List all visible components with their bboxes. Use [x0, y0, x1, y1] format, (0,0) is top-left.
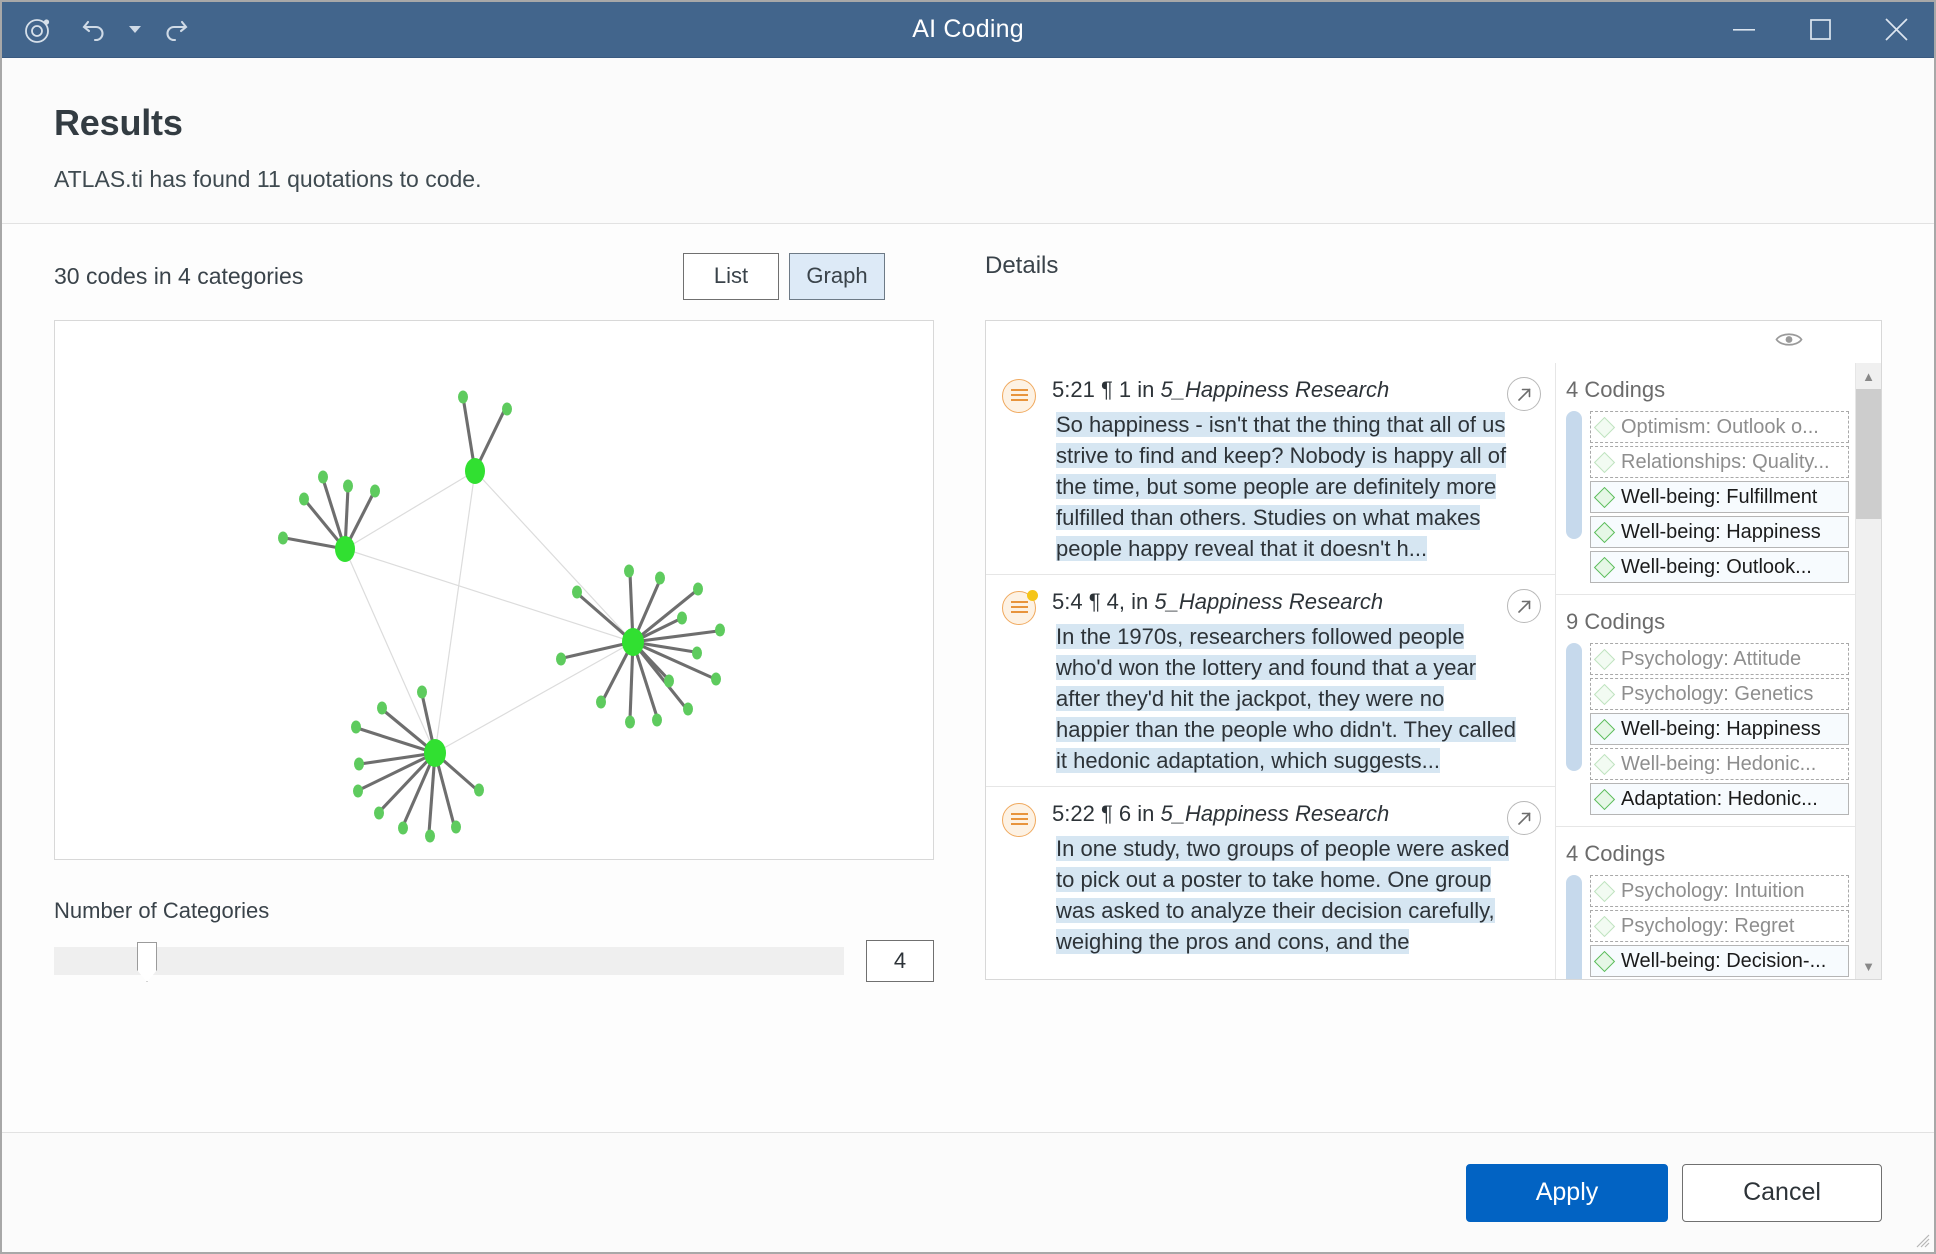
codings-count: 9 Codings [1566, 609, 1849, 635]
quotation-icon [1002, 591, 1036, 625]
open-in-new-icon[interactable] [1507, 589, 1541, 623]
quotation-paragraph: ¶ 4, [1089, 589, 1125, 614]
code-diamond-icon [1594, 683, 1615, 704]
codings-count: 4 Codings [1566, 841, 1849, 867]
code-diamond-icon [1594, 880, 1615, 901]
code-chip[interactable]: Relationships: Quality... [1590, 446, 1849, 478]
window-title: AI Coding [2, 15, 1934, 44]
code-diamond-icon [1594, 915, 1615, 936]
quotation-list: 5:21 ¶ 1 in 5_Happiness Research So happ… [986, 363, 1555, 979]
code-chip[interactable]: Adaptation: Hedonic... [1590, 783, 1849, 815]
code-chip[interactable]: Well-being: Happiness [1590, 713, 1849, 745]
code-diamond-icon [1594, 521, 1615, 542]
atlas-ti-logo-icon [12, 5, 64, 55]
details-scroll-area: 5:21 ¶ 1 in 5_Happiness Research So happ… [986, 363, 1881, 979]
dialog-footer: Apply Cancel [2, 1132, 1934, 1252]
quotation-header: 5:4 ¶ 4, in 5_Happiness Research [1052, 589, 1539, 615]
code-label: Optimism: Outlook o... [1621, 416, 1819, 439]
code-label: Relationships: Quality... [1621, 451, 1830, 474]
code-label: Psychology: Genetics [1621, 683, 1813, 706]
open-in-new-icon[interactable] [1507, 801, 1541, 835]
redo-icon[interactable] [150, 5, 202, 55]
code-chip[interactable]: Optimism: Outlook o... [1590, 411, 1849, 443]
close-icon[interactable] [1858, 2, 1934, 58]
undo-icon[interactable] [68, 5, 120, 55]
eye-icon[interactable] [1775, 330, 1803, 354]
quotation-item[interactable]: 5:22 ¶ 6 in 5_Happiness Research In one … [986, 786, 1555, 967]
code-label: Adaptation: Hedonic... [1621, 788, 1818, 811]
graph-leaf-nodes [278, 391, 725, 843]
graph-svg [55, 321, 933, 859]
quotation-content: 5:21 ¶ 1 in 5_Happiness Research So happ… [1052, 377, 1539, 564]
code-label: Psychology: Attitude [1621, 648, 1801, 671]
details-title: Details [985, 252, 1882, 300]
code-chip[interactable]: Well-being: Outlook... [1590, 551, 1849, 583]
slider-thumb[interactable] [137, 942, 157, 982]
view-switcher: List Graph [683, 253, 885, 300]
categories-slider[interactable] [54, 947, 844, 975]
code-label: Well-being: Hedonic... [1621, 753, 1816, 776]
quotation-icon [1002, 379, 1036, 413]
codings-indicator-bar [1566, 875, 1582, 979]
code-label: Well-being: Fulfillment [1621, 486, 1817, 509]
codes-summary: 30 codes in 4 categories [54, 263, 303, 290]
graph-hub-links [345, 471, 633, 753]
codings-group: 4 Codings Optimism: Outlook o... [1556, 363, 1855, 594]
graph-spokes [285, 397, 718, 833]
code-label: Psychology: Intuition [1621, 880, 1804, 903]
scroll-down-icon[interactable]: ▼ [1856, 953, 1881, 979]
quotation-text: In the 1970s, researchers followed peopl… [1052, 621, 1522, 776]
maximize-icon[interactable] [1782, 2, 1858, 58]
quotation-in-label: in [1137, 801, 1154, 826]
quotation-in-label: in [1131, 589, 1148, 614]
details-scrollbar[interactable]: ▲ ▼ [1855, 363, 1881, 979]
quotation-header: 5:21 ¶ 1 in 5_Happiness Research [1052, 377, 1539, 403]
quotation-header: 5:22 ¶ 6 in 5_Happiness Research [1052, 801, 1539, 827]
codings-count: 4 Codings [1566, 377, 1849, 403]
cancel-button[interactable]: Cancel [1682, 1164, 1882, 1222]
code-diamond-icon [1594, 753, 1615, 774]
quotation-id: 5:4 [1052, 589, 1083, 614]
code-diamond-icon [1594, 788, 1615, 809]
code-chip[interactable]: Well-being: Hedonic... [1590, 748, 1849, 780]
codings-group: 9 Codings Psychology: Attitude [1556, 594, 1855, 826]
title-bar: AI Coding [2, 2, 1934, 58]
quotation-paragraph: ¶ 1 [1101, 377, 1131, 402]
quotation-item[interactable]: 5:21 ¶ 1 in 5_Happiness Research So happ… [986, 363, 1555, 574]
tab-graph-view[interactable]: Graph [789, 253, 885, 300]
categories-value-input[interactable]: 4 [866, 940, 934, 982]
code-diamond-icon [1594, 556, 1615, 577]
window-controls [1706, 2, 1934, 58]
scrollbar-thumb[interactable] [1856, 389, 1881, 519]
code-chip[interactable]: Psychology: Attitude [1590, 643, 1849, 675]
code-diamond-icon [1594, 451, 1615, 472]
details-topbar [986, 321, 1881, 363]
slider-label: Number of Categories [54, 898, 934, 924]
quotation-document: 5_Happiness Research [1154, 589, 1383, 614]
quotation-badge-dot [1027, 590, 1038, 601]
code-diamond-icon [1594, 718, 1615, 739]
code-chip[interactable]: Psychology: Intuition [1590, 875, 1849, 907]
code-chip[interactable]: Well-being: Decision-... [1590, 945, 1849, 977]
quotation-item[interactable]: 5:4 ¶ 4, in 5_Happiness Research In the … [986, 574, 1555, 786]
results-subtitle: ATLAS.ti has found 11 quotations to code… [54, 166, 1934, 193]
quotation-document: 5_Happiness Research [1161, 377, 1390, 402]
scroll-up-icon[interactable]: ▲ [1856, 363, 1881, 389]
code-label: Well-being: Happiness [1621, 718, 1821, 741]
details-panel: 5:21 ¶ 1 in 5_Happiness Research So happ… [985, 320, 1882, 980]
code-graph[interactable] [54, 320, 934, 860]
codings-indicator-bar [1566, 411, 1582, 539]
apply-button[interactable]: Apply [1466, 1164, 1668, 1222]
quotation-document: 5_Happiness Research [1161, 801, 1390, 826]
quotation-id: 5:22 [1052, 801, 1095, 826]
minimize-icon[interactable] [1706, 2, 1782, 58]
code-chip[interactable]: Psychology: Regret [1590, 910, 1849, 942]
slider-row: 4 [54, 940, 934, 982]
codes-pane: 30 codes in 4 categories List Graph [2, 224, 937, 1132]
results-header: Results ATLAS.ti has found 11 quotations… [2, 58, 1934, 224]
quotation-text: In one study, two groups of people were … [1052, 833, 1522, 957]
code-label: Psychology: Regret [1621, 915, 1794, 938]
quotation-paragraph: ¶ 6 [1101, 801, 1131, 826]
code-diamond-icon [1594, 950, 1615, 971]
code-diamond-icon [1594, 416, 1615, 437]
quotation-icon [1002, 803, 1036, 837]
code-diamond-icon [1594, 648, 1615, 669]
title-bar-tools [2, 5, 202, 55]
codings-list: 4 Codings Optimism: Outlook o... [1555, 363, 1855, 979]
open-in-new-icon[interactable] [1507, 377, 1541, 411]
code-label: Well-being: Outlook... [1621, 556, 1812, 579]
code-chip[interactable]: Psychology: Genetics [1590, 678, 1849, 710]
dialog-body: 30 codes in 4 categories List Graph [2, 224, 1934, 1132]
quotation-content: 5:22 ¶ 6 in 5_Happiness Research In one … [1052, 801, 1539, 957]
code-diamond-icon [1594, 486, 1615, 507]
tab-list-view[interactable]: List [683, 253, 779, 300]
code-label: Well-being: Decision-... [1621, 950, 1826, 973]
codes-toolbar: 30 codes in 4 categories List Graph [54, 252, 937, 300]
resize-grip[interactable] [1916, 1234, 1930, 1248]
quotation-content: 5:4 ¶ 4, in 5_Happiness Research In the … [1052, 589, 1539, 776]
code-label: Well-being: Happiness [1621, 521, 1821, 544]
codings-indicator-bar [1566, 643, 1582, 771]
quotation-id: 5:21 [1052, 377, 1095, 402]
chevron-down-icon[interactable] [124, 5, 146, 55]
quotation-text: So happiness - isn't that the thing that… [1052, 409, 1522, 564]
page-title: Results [54, 102, 1934, 144]
code-chip[interactable]: Well-being: Fulfillment [1590, 481, 1849, 513]
code-chip[interactable]: Well-being: Happiness [1590, 516, 1849, 548]
codings-group: 4 Codings Psychology: Intuition [1556, 826, 1855, 979]
quotation-in-label: in [1137, 377, 1154, 402]
number-of-categories-control: Number of Categories 4 [54, 898, 934, 982]
ai-coding-dialog: AI Coding Results ATLAS.ti has found 11 … [0, 0, 1936, 1254]
details-pane: Details [937, 224, 1934, 1132]
